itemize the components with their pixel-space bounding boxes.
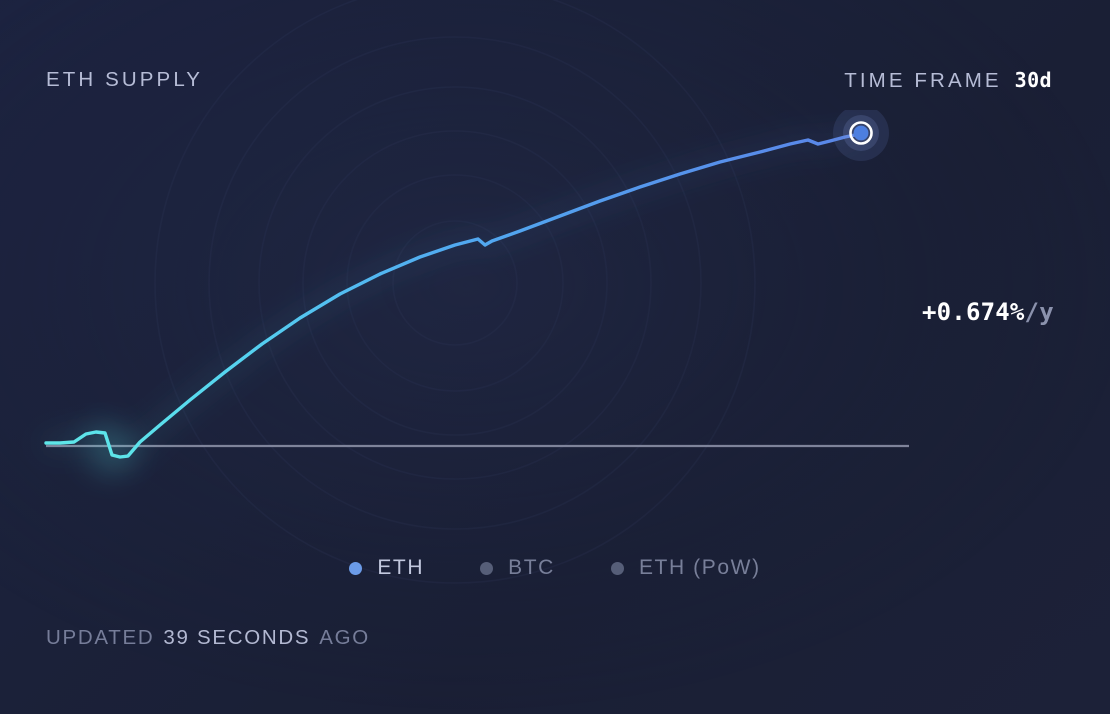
updated-suffix: AGO xyxy=(319,626,370,650)
updated-amount: 39 SECONDS xyxy=(163,626,310,650)
legend-item-btc[interactable]: BTC xyxy=(480,556,555,580)
rate-value: +0.674% xyxy=(922,298,1025,326)
legend-item-eth-pow[interactable]: ETH (PoW) xyxy=(611,556,761,580)
legend-item-eth[interactable]: ETH xyxy=(349,556,424,580)
time-frame-selector[interactable]: TIME FRAME 30d xyxy=(844,68,1052,93)
chart-legend: ETH BTC ETH (PoW) xyxy=(0,552,1110,584)
legend-dot-icon xyxy=(480,562,493,575)
widget-header: ETH SUPPLY TIME FRAME 30d xyxy=(46,63,1052,97)
eth-series-line xyxy=(46,133,861,457)
last-updated-status: UPDATED 39 SECONDS AGO xyxy=(46,623,370,653)
rate-unit: /y xyxy=(1025,298,1054,326)
rate-annotation: +0.674%/y xyxy=(922,300,1054,324)
legend-dot-icon xyxy=(611,562,624,575)
updated-prefix: UPDATED xyxy=(46,626,154,650)
legend-label: ETH (PoW) xyxy=(639,556,761,580)
eth-series-line-glow xyxy=(46,133,861,457)
legend-dot-icon xyxy=(349,562,362,575)
chart-area[interactable]: +0.674%/y xyxy=(0,110,1110,530)
series-end-marker[interactable] xyxy=(833,110,889,161)
eth-supply-widget: ETH SUPPLY TIME FRAME 30d xyxy=(0,0,1110,714)
legend-label: ETH xyxy=(377,556,424,580)
series-origin-glow xyxy=(84,424,136,476)
page-title: ETH SUPPLY xyxy=(46,68,203,92)
time-frame-label: TIME FRAME xyxy=(844,69,1001,93)
legend-label: BTC xyxy=(508,556,555,580)
time-frame-value[interactable]: 30d xyxy=(1015,68,1052,92)
marker-dot xyxy=(854,126,869,141)
